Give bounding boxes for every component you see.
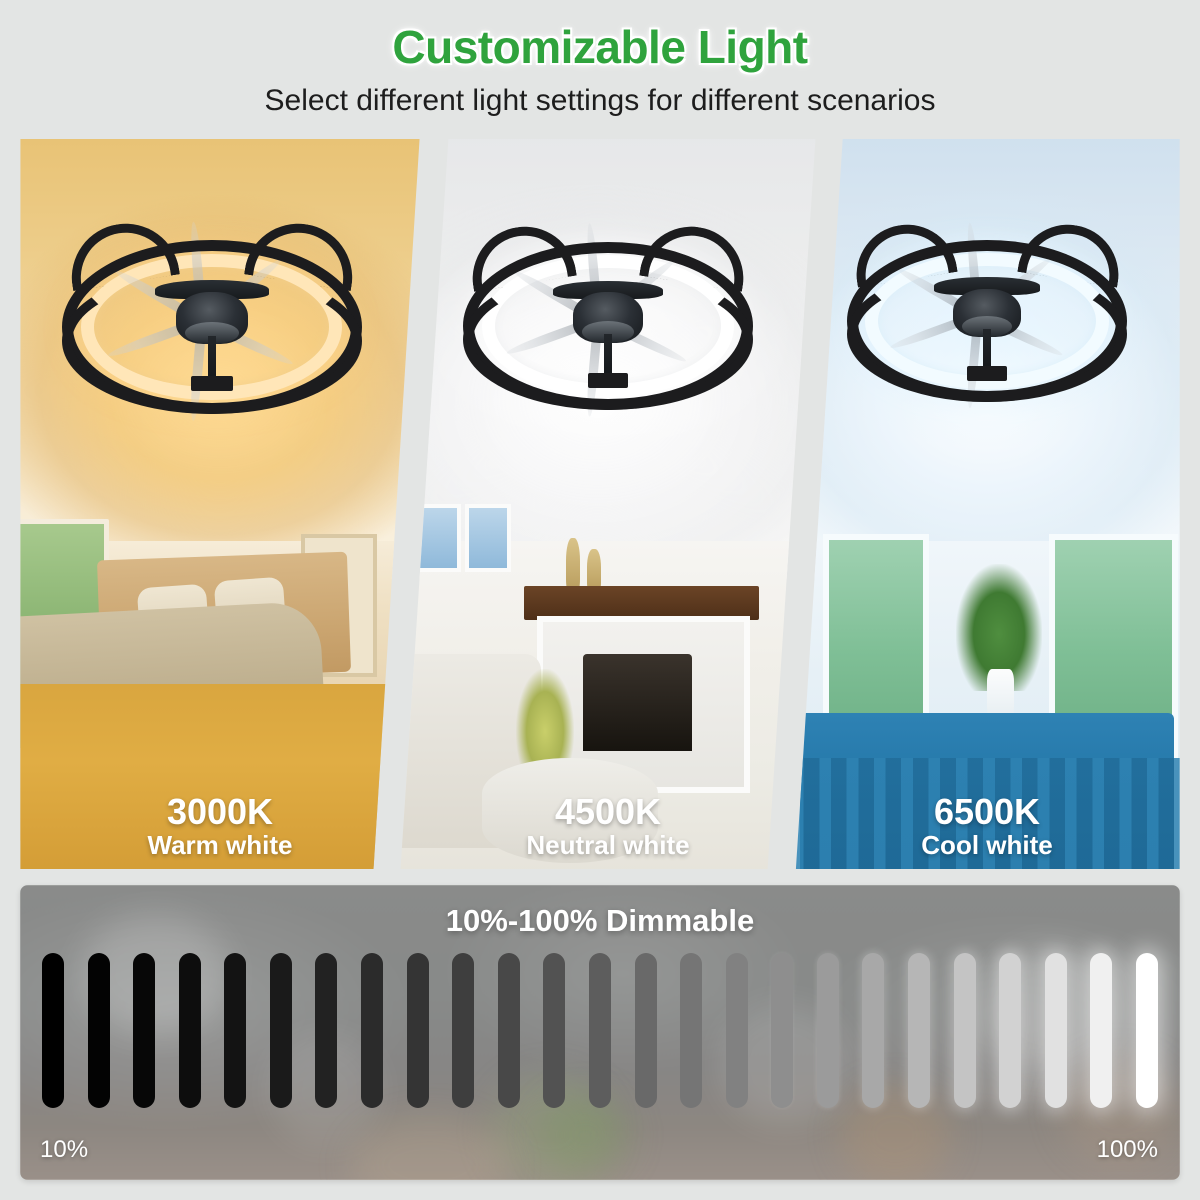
scene-caption-warm-white: 3000K Warm white: [18, 776, 422, 878]
dimmable-title: 10%-100% Dimmable: [20, 903, 1180, 939]
kelvin-name: Warm white: [148, 831, 293, 860]
scene-card-warm-white[interactable]: 3000K Warm white: [18, 130, 422, 878]
frame-foot: [588, 373, 629, 388]
brightness-bar[interactable]: [42, 953, 64, 1108]
brightness-bar[interactable]: [680, 953, 702, 1108]
brightness-bar[interactable]: [1136, 953, 1158, 1108]
scene-caption-cool-white: 6500K Cool white: [792, 776, 1182, 878]
brightness-bar[interactable]: [771, 953, 793, 1108]
brightness-bar[interactable]: [270, 953, 292, 1108]
brightness-bar[interactable]: [954, 953, 976, 1108]
scene-caption-neutral-white: 4500K Neutral white: [398, 776, 818, 878]
brightness-bar[interactable]: [862, 953, 884, 1108]
brightness-bar[interactable]: [452, 953, 474, 1108]
ceiling-fan-fixture: [62, 240, 362, 414]
frame-foot: [967, 366, 1006, 381]
frame-ring-front: [847, 266, 1127, 402]
kelvin-value: 3000K: [167, 794, 273, 831]
scene-image-neutral-white: 4500K Neutral white: [398, 130, 818, 878]
scene-image-warm-white: 3000K Warm white: [18, 130, 422, 878]
brightness-bar[interactable]: [1090, 953, 1112, 1108]
brightness-bar[interactable]: [407, 953, 429, 1108]
window: [415, 504, 461, 572]
brightness-min-label: 10%: [40, 1136, 88, 1164]
dimmable-panel: 10%-100% Dimmable 10% 100%: [20, 885, 1180, 1180]
kelvin-name: Neutral white: [526, 831, 689, 860]
frame-ring-front: [463, 269, 753, 410]
brightness-bar[interactable]: [179, 953, 201, 1108]
brightness-bar[interactable]: [133, 953, 155, 1108]
ceiling-fan-fixture: [463, 242, 753, 410]
brightness-bar[interactable]: [543, 953, 565, 1108]
scene-card-cool-white[interactable]: 6500K Cool white: [792, 130, 1182, 878]
brightness-bar[interactable]: [315, 953, 337, 1108]
scene-image-cool-white: 6500K Cool white: [792, 130, 1182, 878]
page-subtitle: Select different light settings for diff…: [0, 74, 1200, 118]
brightness-bar[interactable]: [361, 953, 383, 1108]
header: Customizable Light Select different ligh…: [0, 0, 1200, 130]
brightness-bar[interactable]: [635, 953, 657, 1108]
firebox: [583, 654, 692, 751]
brightness-bar[interactable]: [817, 953, 839, 1108]
brightness-bar[interactable]: [1045, 953, 1067, 1108]
mantel-shelf: [524, 586, 759, 620]
frame-foot: [191, 376, 233, 392]
kelvin-value: 6500K: [934, 794, 1040, 831]
brightness-bar[interactable]: [88, 953, 110, 1108]
kelvin-value: 4500K: [555, 794, 661, 831]
frame-ring-front: [62, 268, 362, 414]
brightness-scale[interactable]: [42, 953, 1158, 1108]
brightness-bar[interactable]: [224, 953, 246, 1108]
brightness-max-label: 100%: [1097, 1136, 1158, 1164]
light-temperature-gallery: 3000K Warm white 4500K Neutral white: [0, 130, 1200, 878]
brightness-bar[interactable]: [498, 953, 520, 1108]
brightness-bar[interactable]: [589, 953, 611, 1108]
ceiling-fan-fixture: [847, 240, 1127, 402]
brightness-bar[interactable]: [908, 953, 930, 1108]
kelvin-name: Cool white: [921, 831, 1052, 860]
brightness-bar[interactable]: [726, 953, 748, 1108]
brightness-bar[interactable]: [999, 953, 1021, 1108]
bokeh-blob: [350, 1115, 510, 1180]
page-title: Customizable Light: [0, 0, 1200, 74]
window: [465, 504, 511, 572]
scene-card-neutral-white[interactable]: 4500K Neutral white: [398, 130, 818, 878]
